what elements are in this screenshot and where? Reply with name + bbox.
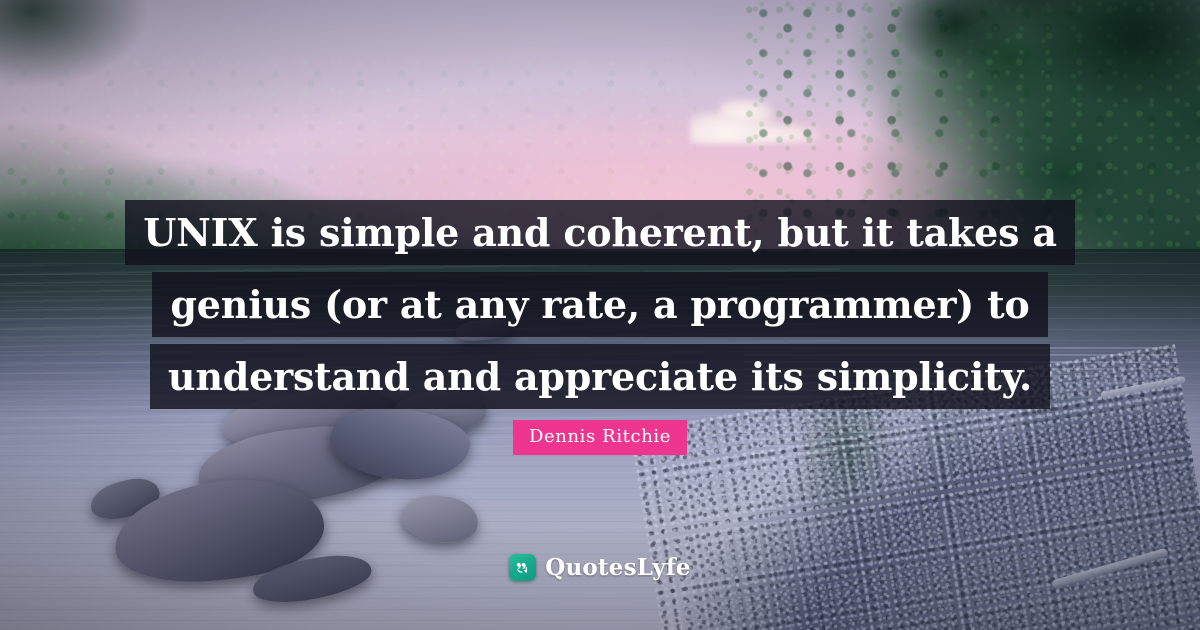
quote-card: UNIX is simple and coherent, but it take… — [0, 0, 1200, 630]
author-badge: Dennis Ritchie — [513, 420, 687, 455]
brand-logo[interactable]: QuotesLyfe — [0, 554, 1200, 581]
quote-line: genius (or at any rate, a programmer) to — [152, 272, 1047, 337]
brand-name: QuotesLyfe — [545, 556, 691, 579]
quote-mark-icon — [509, 554, 536, 581]
quote-overlay: UNIX is simple and coherent, but it take… — [0, 0, 1200, 630]
author-badge-wrapper: Dennis Ritchie — [0, 420, 1200, 455]
quote-line: understand and appreciate its simplicity… — [150, 344, 1050, 409]
quote-line: UNIX is simple and coherent, but it take… — [125, 200, 1075, 265]
quote-text-block: UNIX is simple and coherent, but it take… — [0, 200, 1200, 416]
